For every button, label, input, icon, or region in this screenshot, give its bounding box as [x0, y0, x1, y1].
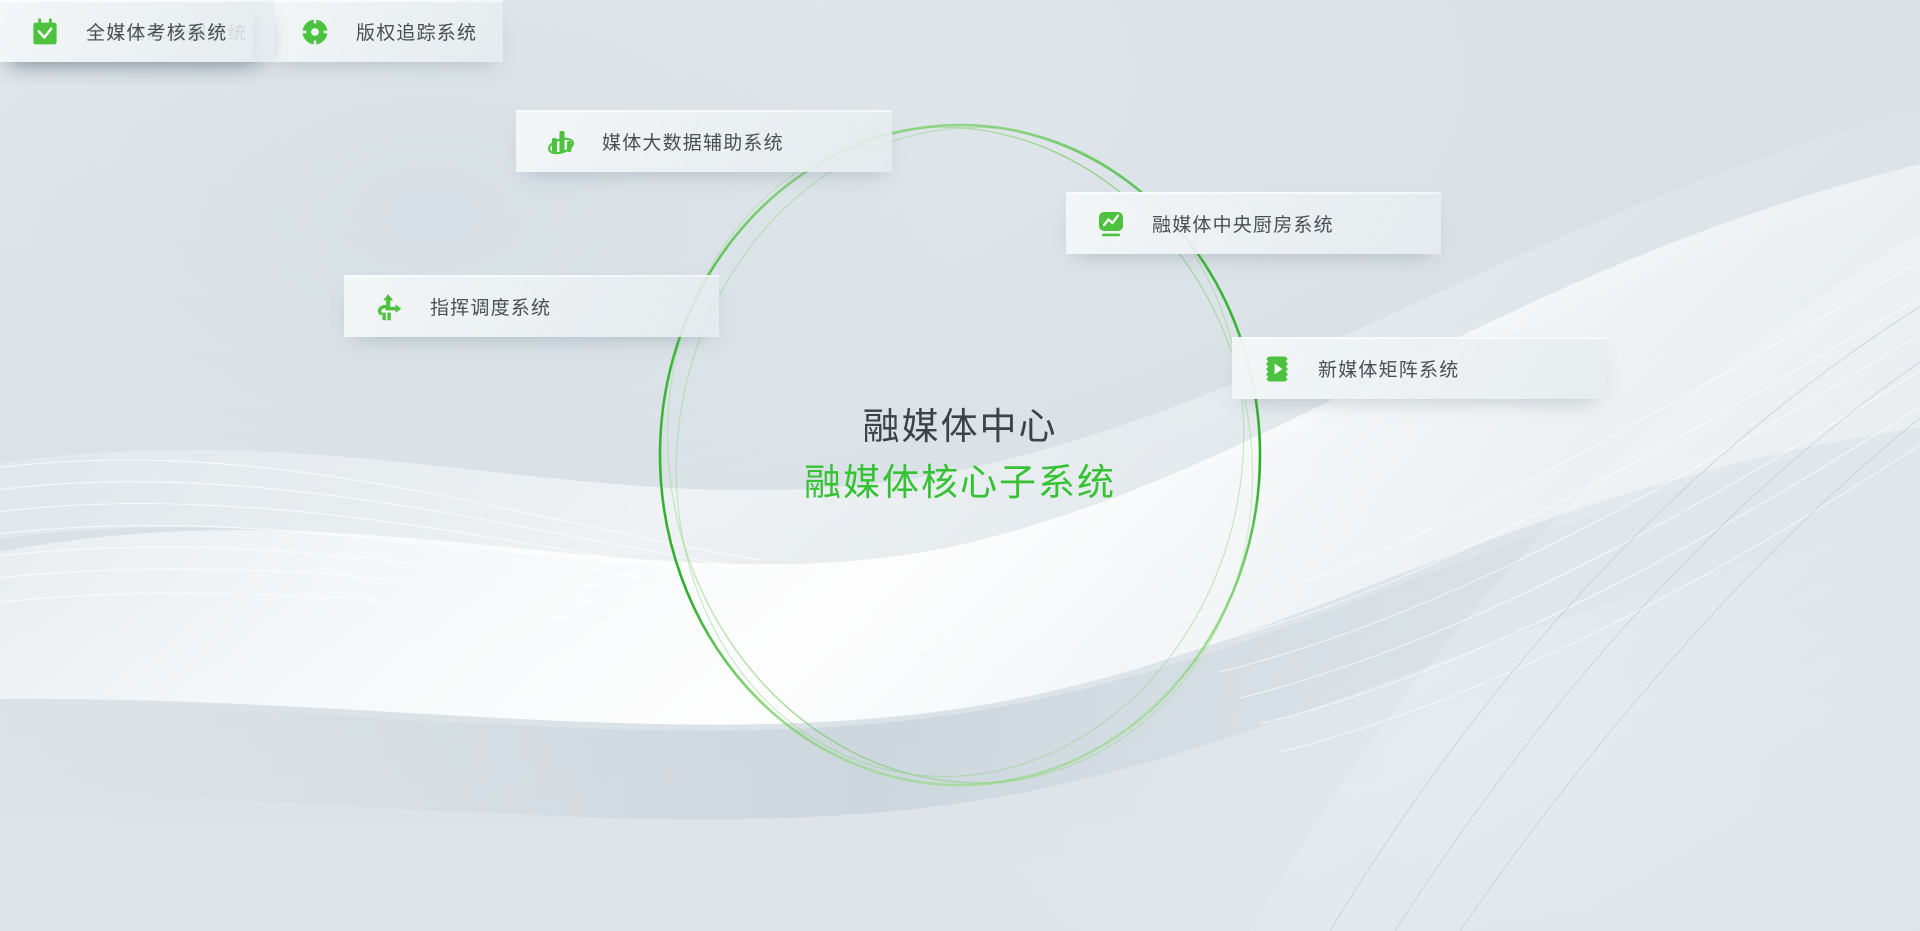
branch-arrows-icon [372, 290, 406, 324]
node-card-matrix[interactable]: 新媒体矩阵系统 [1232, 337, 1606, 399]
node-card-label: 全媒体考核系统 [86, 18, 227, 45]
node-card-dispatch[interactable]: 指挥调度系统 [344, 275, 719, 337]
node-card-label: 媒体大数据辅助系统 [602, 128, 784, 155]
line-chart-card-icon [1094, 207, 1128, 241]
node-card-label: 指挥调度系统 [430, 293, 551, 320]
calendar-check-icon [28, 15, 62, 49]
node-card-label: 新媒体矩阵系统 [1318, 355, 1459, 382]
crosshair-target-icon [298, 15, 332, 49]
node-card-appraise[interactable]: 全媒体考核系统 [0, 0, 253, 62]
node-card-bigdata[interactable]: 媒体大数据辅助系统 [516, 110, 892, 172]
background-highlight-top-left [0, 0, 960, 540]
diagram-canvas: 融媒体中心 融媒体核心子系统 媒体大数据辅助系统 融媒体中 [0, 0, 1920, 931]
node-card-copyright[interactable]: 版权追踪系统 [270, 0, 503, 62]
node-card-label: 融媒体中央厨房系统 [1152, 210, 1334, 237]
node-card-kitchen[interactable]: 融媒体中央厨房系统 [1066, 192, 1441, 254]
background-highlight-bottom-right [922, 428, 1920, 931]
film-play-icon [1260, 352, 1294, 386]
bar-chart-orbit-icon [544, 125, 578, 159]
node-card-label: 版权追踪系统 [356, 18, 477, 45]
